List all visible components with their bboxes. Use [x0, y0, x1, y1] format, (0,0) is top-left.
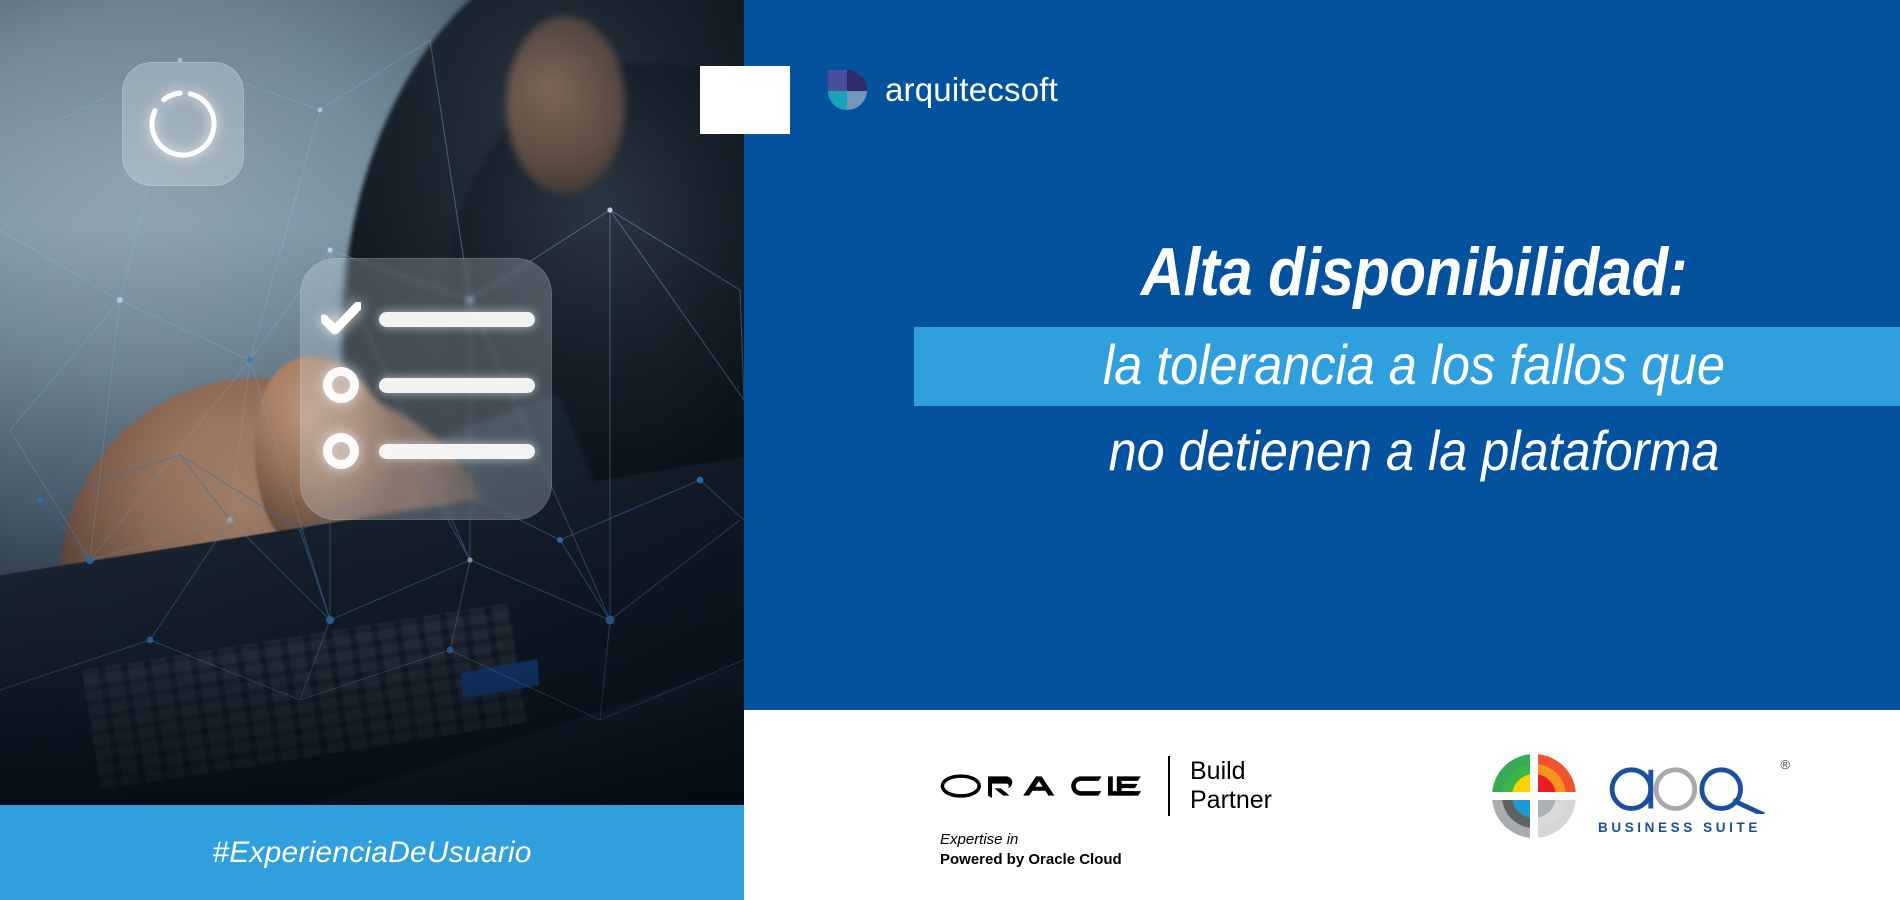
checklist-bar	[379, 444, 535, 459]
arq-pinwheel-icon	[1484, 746, 1588, 850]
registered-trademark-icon: ®	[1780, 757, 1790, 772]
oracle-expertise-label: Expertise in	[940, 830, 1272, 850]
loading-ring-card	[122, 62, 244, 186]
checklist-row	[321, 365, 535, 405]
oracle-build-partner-lockup: Build Partner Expertise in Powered by Or…	[940, 756, 1272, 871]
arq-business-suite-lockup: ® BUSINESS SUITE	[1484, 746, 1774, 850]
headline-line-2: la tolerancia a los fallos que	[964, 336, 1864, 394]
arq-wordmark-block: ® BUSINESS SUITE	[1598, 759, 1774, 837]
arq-wordmark	[1598, 759, 1774, 819]
arquitecsoft-circle-mark	[826, 68, 868, 112]
headline-block: Alta disponibilidad: la tolerancia a los…	[914, 238, 1900, 480]
oracle-program-line-2: Partner	[1190, 786, 1272, 814]
content-panel: arquitecsoft Alta disponibilidad: la tol…	[744, 0, 1900, 710]
headline-line-1: Alta disponibilidad:	[974, 238, 1854, 307]
checklist-bar	[379, 312, 535, 327]
digital-checklist-card	[300, 258, 552, 520]
checklist-row	[321, 431, 535, 471]
headline-highlight-bar: la tolerancia a los fallos que	[914, 327, 1900, 405]
circle-icon	[321, 431, 361, 471]
checklist	[321, 299, 535, 471]
hashtag-bar: #ExperienciaDeUsuario	[0, 805, 744, 900]
circle-icon	[321, 365, 361, 405]
check-icon	[321, 299, 361, 339]
headline-line-3: no detienen a la plataforma	[964, 422, 1864, 480]
checklist-bar	[379, 378, 535, 393]
oracle-expertise-value: Powered by Oracle Cloud	[940, 850, 1272, 870]
hashtag-text: #ExperienciaDeUsuario	[212, 836, 531, 870]
loading-ring-icon	[123, 63, 243, 185]
oracle-wordmark	[940, 774, 1148, 798]
checklist-row	[321, 299, 535, 339]
hero-photo	[0, 0, 744, 805]
brand-lockup: arquitecsoft	[826, 68, 1058, 112]
oracle-divider	[1168, 756, 1170, 816]
arq-tagline: BUSINESS SUITE	[1598, 820, 1761, 835]
oracle-program-line-1: Build	[1190, 757, 1246, 785]
brand-name: arquitecsoft	[885, 71, 1058, 109]
marketing-banner: arquitecsoft Alta disponibilidad: la tol…	[0, 0, 1900, 900]
oracle-top-row: Build Partner	[940, 756, 1272, 816]
white-notch-rectangle	[700, 66, 790, 134]
footer: Build Partner Expertise in Powered by Or…	[744, 710, 1900, 900]
oracle-program-name: Build Partner	[1190, 757, 1272, 816]
oracle-expertise-block: Expertise in Powered by Oracle Cloud	[940, 830, 1272, 871]
